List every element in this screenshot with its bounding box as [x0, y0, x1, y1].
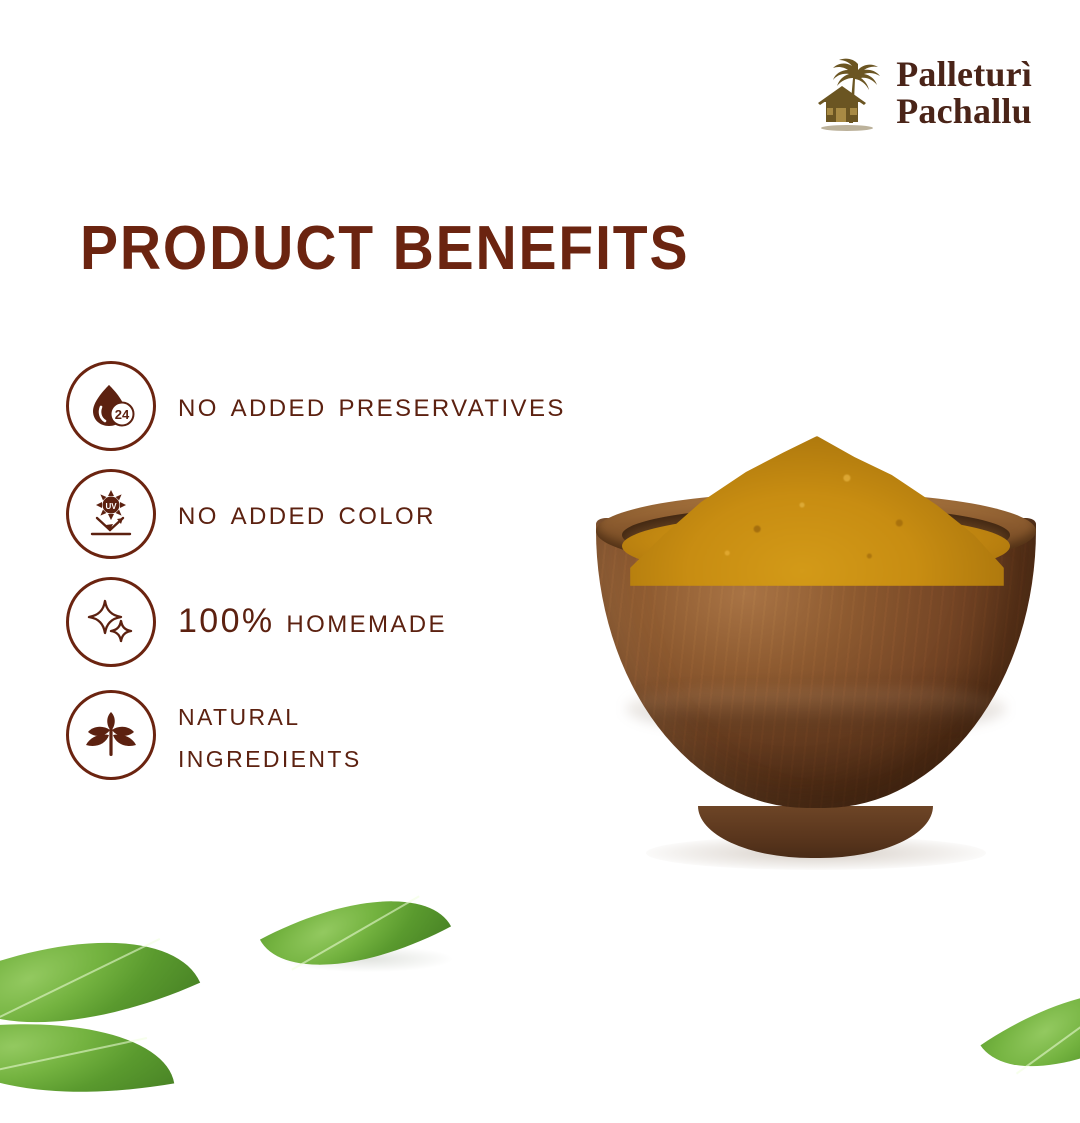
page-title: PRODUCT BENEFITS: [80, 218, 689, 280]
product-image-wooden-bowl-turmeric: [578, 440, 1048, 880]
svg-text:UV: UV: [105, 502, 117, 511]
bowl-highlight-band: [626, 688, 1006, 728]
benefit-label: No Added Preservatives: [178, 384, 566, 428]
brand-name-line1: Palleturì: [896, 56, 1032, 93]
svg-text:24: 24: [115, 407, 130, 422]
benefit-label: No Added Color: [178, 492, 436, 536]
sparkle-stars-icon: [66, 577, 156, 667]
benefit-label: Natural Ingredients: [178, 693, 362, 777]
brand-name-line2: Pachallu: [896, 93, 1032, 130]
brand-name: Palleturì Pachallu: [896, 56, 1032, 129]
water-droplet-24-icon: 24: [66, 361, 156, 451]
brand-logo: Palleturì Pachallu: [814, 52, 1032, 134]
palm-tree-hut-icon: [814, 52, 886, 134]
leaves-plant-icon: [66, 690, 156, 780]
benefit-label: 100% Homemade: [178, 600, 447, 644]
uv-sun-reflect-icon: UV: [66, 469, 156, 559]
leaf-bottom-right: [980, 945, 1080, 1114]
leaf-bottom-center: [260, 857, 451, 1008]
